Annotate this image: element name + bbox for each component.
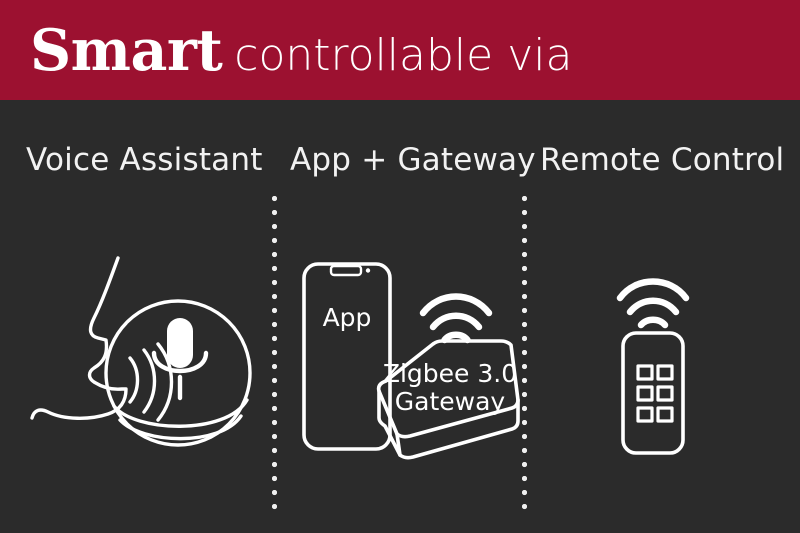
remote-control-illustration (590, 270, 730, 460)
wifi-signal-icon (423, 297, 489, 341)
gateway-label-line2: Gateway (395, 387, 506, 416)
header-banner: Smartcontrollable via (0, 0, 800, 100)
column-title-voice-assistant: Voice Assistant (26, 142, 263, 178)
remote-button (658, 408, 672, 421)
remote-button (638, 408, 652, 421)
remote-button (658, 387, 672, 400)
infographic-page: Smartcontrollable via Voice Assistant Ap… (0, 0, 800, 533)
header-title-light: controllable via (234, 30, 572, 81)
column-title-remote-control: Remote Control (540, 142, 784, 178)
remote-control-icon (623, 333, 683, 453)
header-title: Smartcontrollable via (30, 22, 572, 79)
dotted-divider-left (272, 196, 277, 516)
phone-app-label: App (323, 303, 372, 332)
speaking-face-icon (32, 258, 126, 418)
voice-assistant-illustration (30, 250, 270, 460)
header-title-bold: Smart (30, 17, 222, 84)
microphone-icon (154, 318, 206, 398)
smartphone-icon: App (304, 264, 390, 449)
gateway-label-line1: Zigbee 3.0 (383, 359, 517, 388)
sound-wave-icon (130, 344, 172, 420)
gateway-box-icon: Zigbee 3.0 Gateway (379, 341, 518, 458)
remote-button (638, 387, 652, 400)
remote-button (638, 366, 652, 379)
app-gateway-illustration: App Zigbee 3.0 Gateway (290, 250, 520, 465)
remote-button (658, 366, 672, 379)
wifi-signal-icon (620, 282, 686, 326)
column-title-app-gateway: App + Gateway (290, 142, 536, 178)
dotted-divider-right (522, 196, 527, 516)
